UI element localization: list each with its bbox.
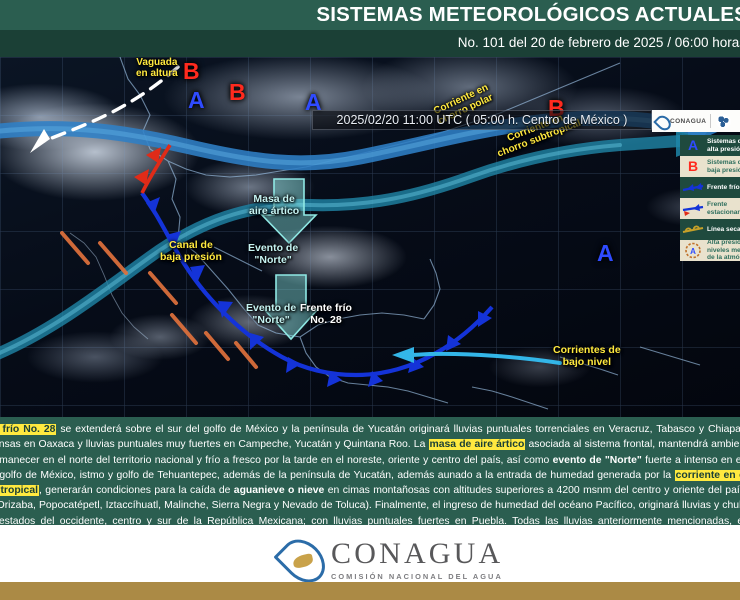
satellite-map[interactable]: B A B A B A Vaguada en altura Masa de ai… — [0, 57, 740, 417]
annotation-corrientes-bajo-nivel: Corrientes de bajo nivel — [553, 345, 621, 369]
logo-divider — [710, 114, 711, 128]
conagua-mini-logo: CONAGUA — [656, 115, 706, 128]
stationary-front-icon — [682, 200, 704, 217]
bulletin-number: No. 101 del 20 de febrero de 2025 / 06:0… — [458, 35, 740, 50]
low-pressure-icon: B — [682, 158, 704, 175]
legend-label: Sistemas de alta presión — [707, 138, 740, 153]
annotation-evento-norte-2: Evento de "Norte" — [246, 303, 296, 327]
bulletin-text-block: nte frío No. 28 se extenderá sobre el su… — [0, 417, 740, 525]
legend-label: Alta presión en niveles medios de la atm… — [707, 240, 740, 261]
high-pressure-icon: A — [682, 137, 704, 154]
timestamp-text: 2025/02/20 11:00 UTC ( 05:00 h. Centro d… — [337, 113, 628, 127]
footer-gold-bar — [0, 582, 740, 600]
map-timestamp: 2025/02/20 11:00 UTC ( 05:00 h. Centro d… — [312, 110, 652, 130]
conagua-name: CONAGUA — [331, 539, 503, 569]
header-title-bar: SISTEMAS METEOROLÓGICOS ACTUALES — [0, 0, 740, 30]
legend-item-frente-frio: Frente frío — [680, 177, 740, 198]
legend-item-linea-seca: Línea seca — [680, 219, 740, 240]
conagua-drop-icon — [282, 535, 322, 585]
header-bulletin-bar: No. 101 del 20 de febrero de 2025 / 06:0… — [0, 30, 740, 57]
legend-item-baja-presion: B Sistemas de baja presión — [680, 156, 740, 177]
conagua-subtitle: COMISIÓN NACIONAL DEL AGUA — [331, 572, 503, 581]
annotation-frente-frio-28: Frente frío No. 28 — [300, 303, 352, 327]
smn-emblem-icon — [715, 113, 732, 130]
legend-item-frente-estacionario: Frente estacionario — [680, 198, 740, 219]
mid-level-high-icon: A — [682, 242, 704, 259]
svg-text:A: A — [690, 247, 696, 256]
map-logo-bar: CONAGUA — [652, 110, 740, 132]
legend-item-alta-presion: A Sistemas de alta presión — [680, 135, 740, 156]
map-legend: A Sistemas de alta presión B Sistemas de… — [680, 135, 740, 261]
legend-label: Línea seca — [707, 226, 740, 233]
legend-label: Frente frío — [707, 184, 740, 191]
dry-line-icon — [682, 221, 704, 238]
weather-bulletin-page: SISTEMAS METEOROLÓGICOS ACTUALES No. 101… — [0, 0, 740, 600]
conagua-wordmark: CONAGUA COMISIÓN NACIONAL DEL AGUA — [331, 539, 503, 581]
page-title: SISTEMAS METEOROLÓGICOS ACTUALES — [316, 3, 740, 27]
cold-front-icon — [682, 179, 704, 196]
annotation-evento-norte-1: Evento de "Norte" — [248, 243, 298, 267]
annotation-masa-artico: Masa de aire ártico — [249, 194, 299, 218]
legend-label: Sistemas de baja presión — [707, 159, 740, 174]
legend-label: Frente estacionario — [707, 201, 740, 216]
bulletin-paragraph: nte frío No. 28 se extenderá sobre el su… — [0, 422, 740, 525]
annotation-canal-baja-presion: Canal de baja presión — [160, 240, 222, 264]
legend-item-alta-niveles-medios: A Alta presión en niveles medios de la a… — [680, 240, 740, 261]
conagua-logo: CONAGUA COMISIÓN NACIONAL DEL AGUA — [282, 535, 503, 585]
water-drop-icon — [656, 115, 667, 128]
annotation-vaguada: Vaguada en altura — [136, 57, 178, 79]
conagua-mini-text: CONAGUA — [670, 118, 706, 125]
